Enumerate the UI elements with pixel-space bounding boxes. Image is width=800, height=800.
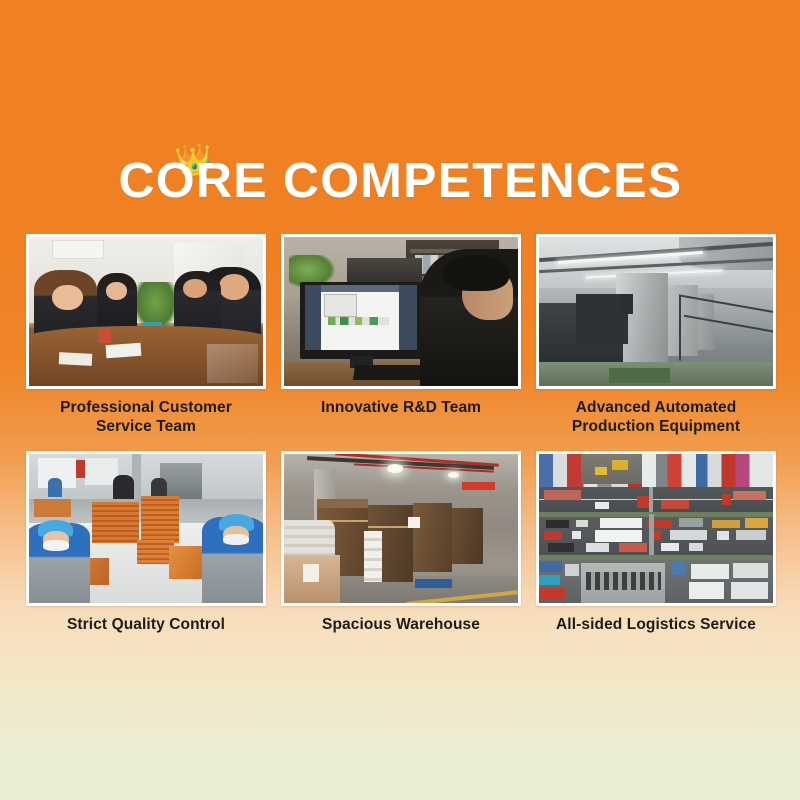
photo-frame — [281, 234, 521, 389]
page-title-block: 👑 CORE COMPETENCES — [0, 152, 800, 210]
photo-advanced-automated-production-equipment — [539, 237, 773, 386]
card-caption: Professional Customer Service Team — [26, 398, 266, 436]
competence-card-strict-quality-control[interactable]: Strict Quality Control — [26, 451, 266, 634]
competence-card-professional-customer-service-team[interactable]: Professional Customer Service Team — [26, 234, 266, 436]
photo-frame — [26, 234, 266, 389]
core-competences-banner: 👑 CORE COMPETENCES Professional Customer — [0, 0, 800, 800]
caption-line-1: Professional Customer — [60, 399, 232, 416]
photo-innovative-rd-team — [284, 237, 518, 386]
card-caption: Innovative R&D Team — [281, 398, 521, 417]
card-caption: Strict Quality Control — [26, 615, 266, 634]
photo-frame — [26, 451, 266, 606]
competence-card-innovative-rd-team[interactable]: Innovative R&D Team — [281, 234, 521, 436]
page-title: CORE COMPETENCES — [118, 152, 682, 210]
card-caption: Spacious Warehouse — [281, 615, 521, 634]
card-caption: Advanced Automated Production Equipment — [536, 398, 776, 436]
caption-line-1: Strict Quality Control — [67, 616, 225, 633]
photo-spacious-warehouse — [284, 454, 518, 603]
caption-line-1: Advanced Automated — [576, 399, 737, 416]
competences-grid: Professional Customer Service Team — [26, 234, 776, 634]
photo-frame — [536, 451, 776, 606]
card-caption: All-sided Logistics Service — [536, 615, 776, 634]
photo-frame — [536, 234, 776, 389]
caption-line-2: Service Team — [26, 417, 266, 436]
competence-card-spacious-warehouse[interactable]: Spacious Warehouse — [281, 451, 521, 634]
competence-card-all-sided-logistics-service[interactable]: All-sided Logistics Service — [536, 451, 776, 634]
caption-line-1: Innovative R&D Team — [321, 399, 481, 416]
photo-all-sided-logistics-service — [539, 454, 773, 603]
caption-line-1: All-sided Logistics Service — [556, 616, 756, 633]
photo-professional-customer-service-team — [29, 237, 263, 386]
competence-card-advanced-automated-production-equipment[interactable]: Advanced Automated Production Equipment — [536, 234, 776, 436]
caption-line-2: Production Equipment — [536, 417, 776, 436]
caption-line-1: Spacious Warehouse — [322, 616, 480, 633]
photo-frame — [281, 451, 521, 606]
photo-strict-quality-control — [29, 454, 263, 603]
